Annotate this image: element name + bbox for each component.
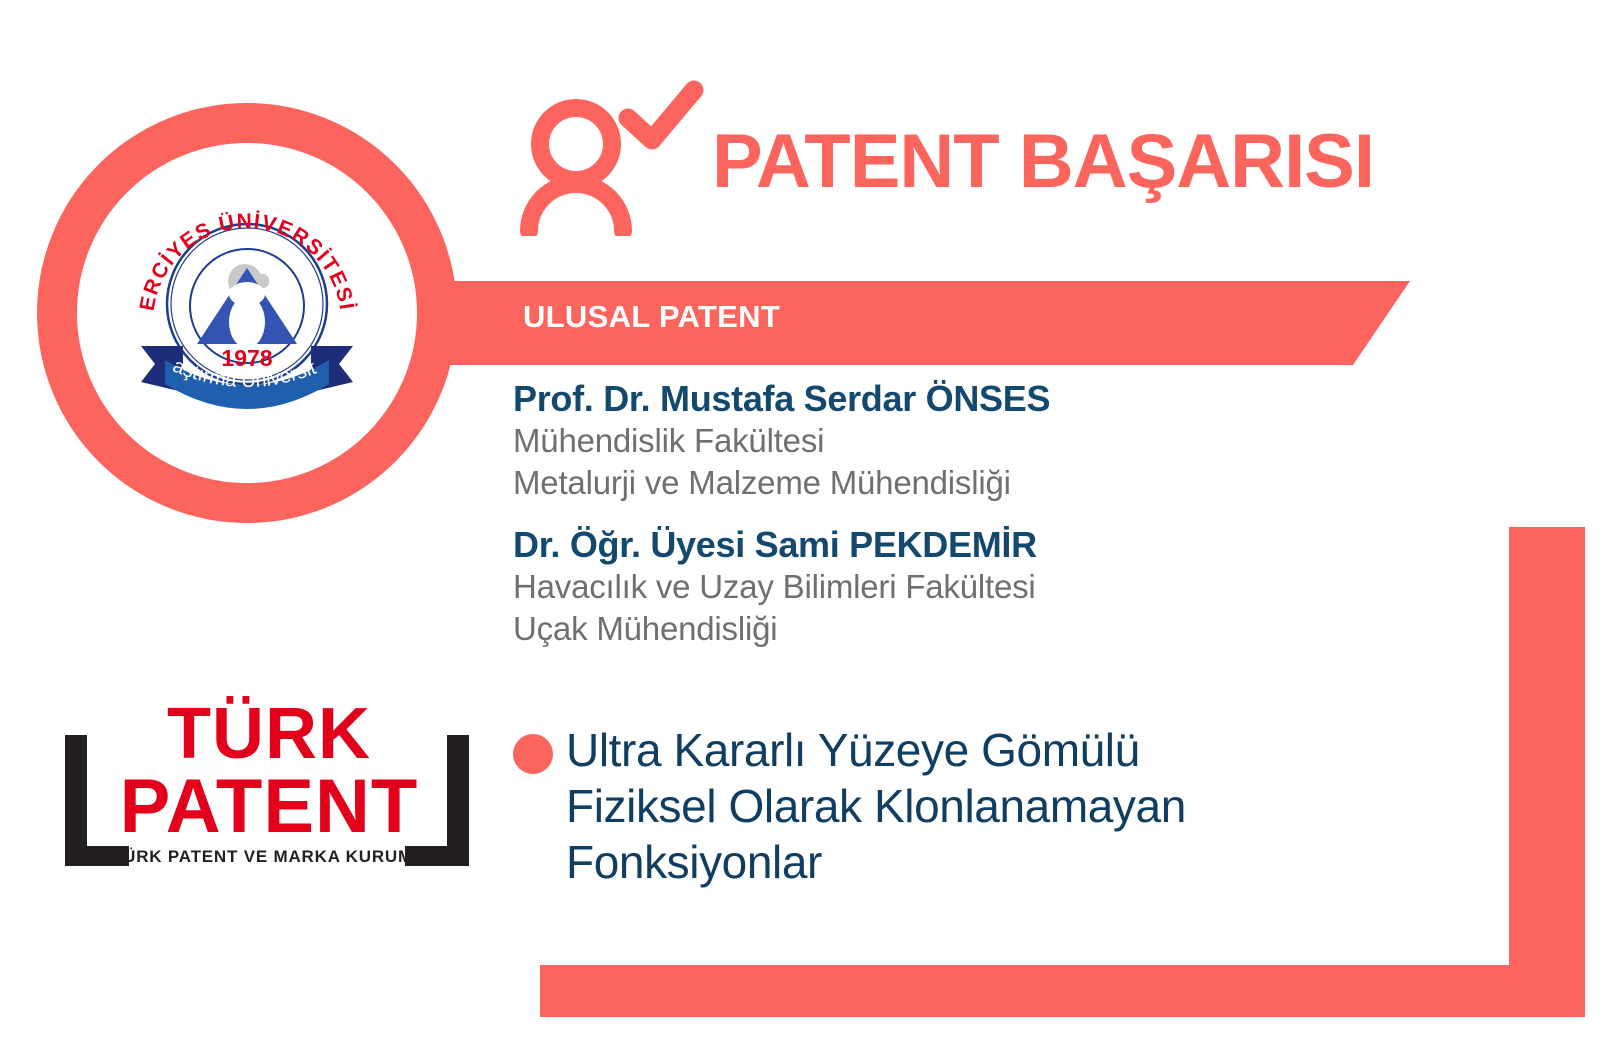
patent-title-line: Fiziksel Olarak Klonlanamayan [566, 778, 1363, 834]
patent-announcement-poster: ERCİYES ÜNİVERSİTESİ 1978 Araştırma Üniv… [0, 0, 1600, 1046]
inventor-department: Metalurji ve Malzeme Mühendisliği [513, 462, 1273, 504]
inventor-list: Prof. Dr. Mustafa Serdar ÖNSES Mühendisl… [513, 378, 1273, 649]
turk-patent-line1: TÜRK [167, 694, 371, 774]
patent-title: Ultra Kararlı Yüzeye Gömülü Fiziksel Ola… [566, 722, 1363, 890]
inventor-entry: Prof. Dr. Mustafa Serdar ÖNSES Mühendisl… [513, 378, 1273, 504]
svg-text:1978: 1978 [221, 345, 272, 371]
banner-label: ULUSAL PATENT [523, 299, 780, 335]
inventor-name: Dr. Öğr. Üyesi Sami PEKDEMİR [513, 524, 1273, 566]
inventor-name: Prof. Dr. Mustafa Serdar ÖNSES [513, 378, 1273, 420]
patent-title-block: Ultra Kararlı Yüzeye Gömülü Fiziksel Ola… [513, 722, 1363, 890]
page-title: PATENT BAŞARISI [712, 124, 1374, 200]
inventor-faculty: Mühendislik Fakültesi [513, 420, 1273, 462]
decorative-frame-vertical-bar [1509, 527, 1585, 1017]
bullet-dot-icon [513, 734, 553, 774]
erciyes-university-emblem-icon: ERCİYES ÜNİVERSİTESİ 1978 Araştırma Üniv… [125, 196, 369, 416]
turk-patent-subtitle: TÜRK PATENT VE MARKA KURUMU [112, 847, 426, 866]
patent-title-line: Ultra Kararlı Yüzeye Gömülü [566, 722, 1363, 778]
inventor-faculty: Havacılık ve Uzay Bilimleri Fakültesi [513, 566, 1273, 608]
decorative-frame-horizontal-bar [540, 965, 1585, 1017]
inventor-department: Uçak Mühendisliği [513, 608, 1273, 650]
patent-title-line: Fonksiyonlar [566, 834, 1363, 890]
turk-patent-logo: TÜRK PATENT TÜRK PATENT VE MARKA KURUMU [57, 680, 477, 875]
person-check-icon [516, 76, 706, 236]
turk-patent-line2: PATENT [120, 764, 419, 849]
inventor-entry: Dr. Öğr. Üyesi Sami PEKDEMİR Havacılık v… [513, 524, 1273, 650]
